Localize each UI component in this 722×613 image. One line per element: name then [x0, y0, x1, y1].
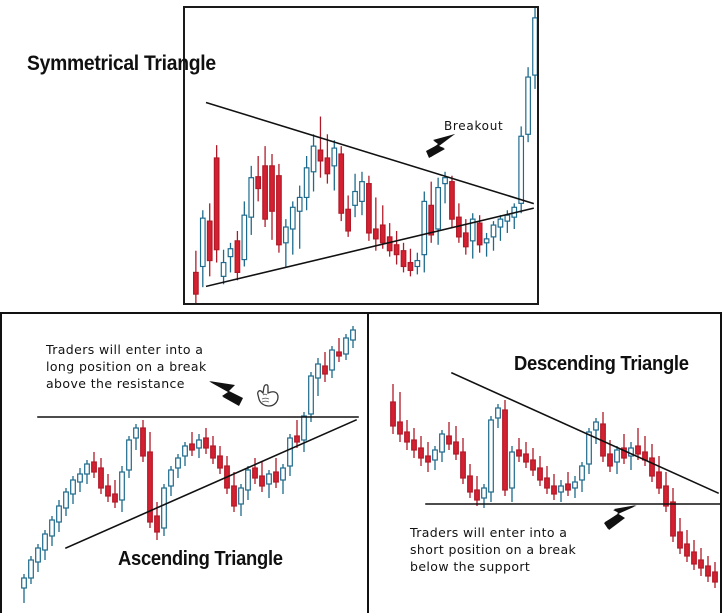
page-title-descending: Descending Triangle — [514, 353, 689, 376]
arrow-down-right-icon — [208, 378, 244, 410]
page-title-symmetrical: Symmetrical Triangle — [27, 52, 216, 76]
pointing-hand-icon — [256, 382, 282, 410]
pattern-infographic: Symmetrical Triangle Breakout Ascending … — [0, 0, 722, 613]
ascending-annotation-text: Traders will enter into a long position … — [46, 341, 207, 392]
symmetrical-triangle-chart — [185, 8, 537, 303]
descending-annotation-text: Traders will enter into a short position… — [410, 524, 576, 575]
arrow-down-left-icon — [425, 132, 457, 160]
trendline-ascending-support — [66, 420, 356, 548]
panel-divider-horizontal — [0, 312, 722, 314]
panel-symmetrical-triangle — [183, 6, 539, 305]
panel-divider-vertical — [367, 314, 369, 613]
frame-border-left — [0, 314, 2, 613]
page-title-ascending: Ascending Triangle — [118, 548, 283, 571]
arrow-up-right-icon — [604, 505, 638, 537]
